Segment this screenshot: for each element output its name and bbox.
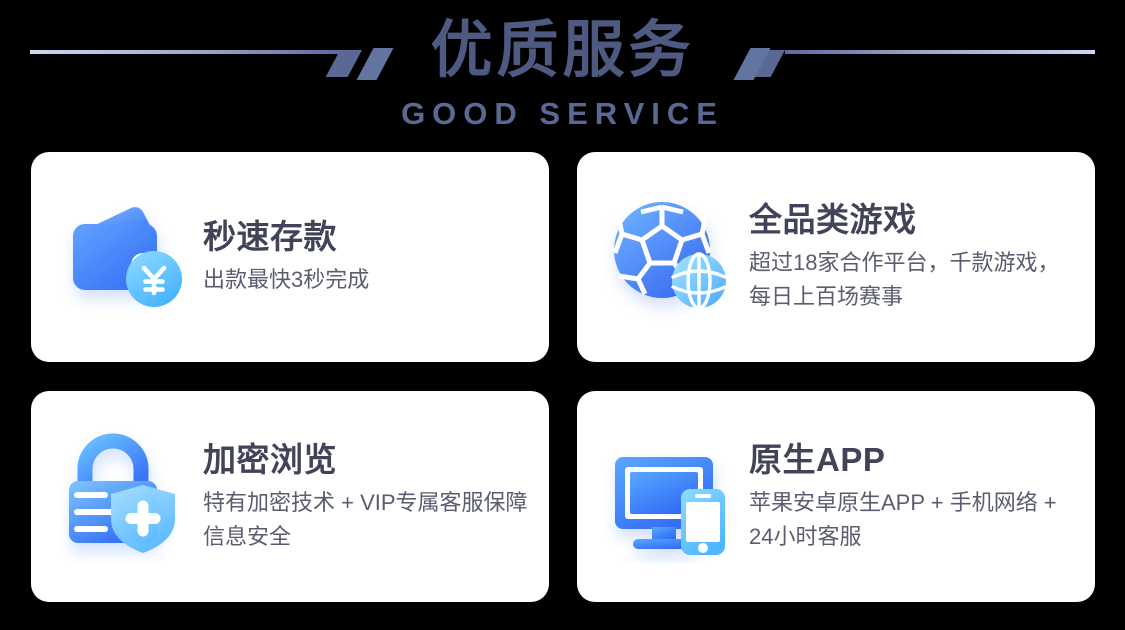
- feature-card-desc: 超过18家合作平台，千款游戏，每日上百场赛事: [749, 246, 1079, 314]
- feature-card-title: 全品类游戏: [749, 200, 1079, 240]
- feature-card-games[interactable]: 全品类游戏 超过18家合作平台，千款游戏，每日上百场赛事: [577, 152, 1095, 362]
- soccer-basketball-icon: [605, 191, 737, 323]
- wallet-yen-icon: [59, 191, 191, 323]
- feature-card-deposit[interactable]: 秒速存款 出款最快3秒完成: [31, 152, 549, 362]
- page-subtitle: GOOD SERVICE: [0, 96, 1125, 132]
- feature-card-desc: 出款最快3秒完成: [203, 263, 533, 297]
- feature-card-title: 秒速存款: [203, 217, 533, 257]
- feature-card-desc: 苹果安卓原生APP + 手机网络 + 24小时客服: [749, 486, 1079, 554]
- feature-card-desc: 特有加密技术 + VIP专属客服保障信息安全: [203, 486, 533, 554]
- promo-banner: 优质服务 GOOD SERVICE: [0, 0, 1125, 630]
- feature-card-title: 加密浏览: [203, 440, 533, 480]
- feature-card-text: 全品类游戏 超过18家合作平台，千款游戏，每日上百场赛事: [749, 200, 1095, 314]
- page-title: 优质服务: [0, 12, 1125, 90]
- banner-header: 优质服务 GOOD SERVICE: [0, 0, 1125, 145]
- feature-card-grid: 秒速存款 出款最快3秒完成: [31, 152, 1095, 602]
- feature-card-native-app[interactable]: 原生APP 苹果安卓原生APP + 手机网络 + 24小时客服: [577, 391, 1095, 602]
- feature-card-text: 加密浏览 特有加密技术 + VIP专属客服保障信息安全: [203, 440, 549, 554]
- feature-card-title: 原生APP: [749, 440, 1079, 480]
- feature-card-encryption[interactable]: 加密浏览 特有加密技术 + VIP专属客服保障信息安全: [31, 391, 549, 602]
- monitor-phone-icon: [605, 431, 737, 563]
- feature-card-text: 秒速存款 出款最快3秒完成: [203, 217, 549, 297]
- feature-card-text: 原生APP 苹果安卓原生APP + 手机网络 + 24小时客服: [749, 440, 1095, 554]
- lock-shield-icon: [59, 431, 191, 563]
